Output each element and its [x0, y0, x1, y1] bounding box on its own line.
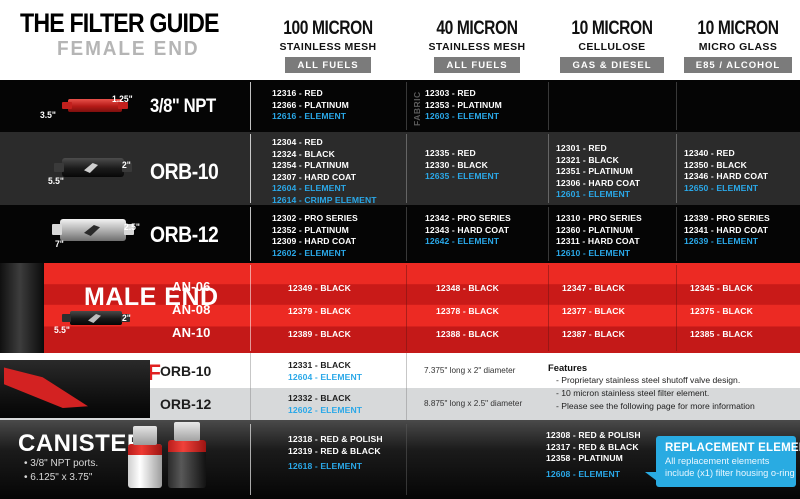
part-number: 12316 - RED — [272, 88, 349, 100]
part-number-element: 12610 - ELEMENT — [556, 248, 642, 260]
part-number: 12311 - HARD COAT — [556, 236, 642, 248]
column-header-10-micron-cellulose: 10 MICRON CELLULOSE GAS & DIESEL — [548, 18, 676, 73]
part-number-element: 12642 - ELEMENT — [425, 236, 511, 248]
section-male-end: MALE END 5.5" 2" AN-06 AN-08 AN-10 12349… — [0, 263, 800, 353]
part-cell-orb12-10micron-microglass: 12339 - PRO SERIES 12341 - HARD COAT 126… — [684, 213, 770, 248]
part-number: 12341 - HARD COAT — [684, 225, 770, 237]
column-header-40-micron: 40 MICRON STAINLESS MESH ALL FUELS — [406, 18, 548, 73]
part-number: 12321 - BLACK — [556, 155, 640, 167]
part-number: 12301 - RED — [556, 143, 640, 155]
part-number: 12317 - RED & BLACK — [546, 442, 641, 454]
filter-endcap-left — [52, 224, 62, 235]
part-number: 12335 - RED — [425, 148, 499, 160]
part-cell-orb12-10micron-cellulose: 12310 - PRO SERIES 12360 - PLATINUM 1231… — [556, 213, 642, 259]
dimension-diameter-38-npt: 1.25" — [112, 94, 133, 105]
part-number: 12378 - BLACK — [436, 300, 510, 323]
part-number: 12346 - HARD COAT — [684, 171, 768, 183]
shutoff-dimension-orb-10: 7.375" long x 2" diameter — [424, 366, 515, 375]
part-number: 12354 - PLATINUM — [272, 160, 377, 172]
section-canister: CANISTER • 3/8" NPT ports. • 6.125" x 3.… — [0, 420, 800, 499]
part-number-element: 12604 - ELEMENT — [272, 183, 377, 195]
part-number: 12343 - HARD COAT — [425, 225, 511, 237]
dimension-diameter-orb-10: 2" — [122, 160, 131, 171]
part-cell-shutoff-orb-10: 12331 - BLACK 12604 - ELEMENT — [288, 360, 362, 383]
dimension-length-orb-12: 7" — [55, 239, 64, 250]
part-cell-shutoff-orb-12: 12332 - BLACK 12602 - ELEMENT — [288, 393, 362, 416]
part-number: 12353 - PLATINUM — [425, 100, 502, 112]
filter-endcap-left — [62, 314, 71, 322]
part-cell-canister-right: 12308 - RED & POLISH 12317 - RED & BLACK… — [546, 430, 641, 480]
column-fuel-badge: ALL FUELS — [285, 57, 370, 73]
part-number: 12304 - RED — [272, 137, 377, 149]
badge-line-1: All replacement elements — [665, 456, 787, 468]
part-number: 12318 - RED & POLISH — [288, 434, 383, 446]
part-number-element: 12650 - ELEMENT — [684, 183, 768, 195]
part-number-element: 12635 - ELEMENT — [425, 171, 499, 183]
feature-item: - Proprietary stainless steel shutoff va… — [556, 375, 740, 385]
part-number: 12358 - PLATINUM — [546, 453, 641, 465]
canister-bullet: • 6.125" x 3.75" — [24, 472, 92, 483]
part-cell-38npt-40micron: 12303 - RED 12353 - PLATINUM 12603 - ELE… — [425, 88, 502, 123]
part-number: 12324 - BLACK — [272, 149, 377, 161]
part-number: 12342 - PRO SERIES — [425, 213, 511, 225]
hero-male-filter-photo — [0, 263, 44, 353]
part-number: 12347 - BLACK — [562, 277, 636, 300]
column-fuel-badge: ALL FUELS — [434, 57, 519, 73]
part-number: 12332 - BLACK — [288, 393, 362, 405]
part-number: 12350 - BLACK — [684, 160, 768, 172]
table-row-orb-10: 5.5" 2" ORB-10 12304 - RED 12324 - BLACK… — [0, 132, 800, 205]
part-number: 12309 - HARD COAT — [272, 236, 358, 248]
column-material-label: MICRO GLASS — [676, 41, 800, 53]
dimension-length-orb-10: 5.5" — [48, 176, 64, 187]
dimension-length-male: 5.5" — [54, 325, 70, 336]
part-number: 12388 - BLACK — [436, 323, 510, 346]
part-cell-orb12-100micron: 12302 - PRO SERIES 12352 - PLATINUM 1230… — [272, 213, 358, 259]
part-cell-38npt-100micron: 12316 - RED 12366 - PLATINUM 12616 - ELE… — [272, 88, 349, 123]
part-number: 12348 - BLACK — [436, 277, 510, 300]
part-cell-orb12-40micron: 12342 - PRO SERIES 12343 - HARD COAT 126… — [425, 213, 511, 248]
filter-endcap-left — [54, 163, 64, 172]
replacement-elements-badge: REPLACEMENT ELEMENTS All replacement ele… — [656, 436, 796, 487]
part-number-element: 12602 - ELEMENT — [272, 248, 358, 260]
part-number: 12339 - PRO SERIES — [684, 213, 770, 225]
column-fuel-badge: E85 / ALCOHOL — [684, 57, 792, 73]
part-number: 12349 - BLACK — [288, 277, 362, 300]
part-cell-orb10-10micron-microglass: 12340 - RED 12350 - BLACK 12346 - HARD C… — [684, 148, 768, 194]
column-material-label: STAINLESS MESH — [406, 41, 548, 53]
part-number: 12330 - BLACK — [425, 160, 499, 172]
row-label-shutoff-orb-12: ORB-12 — [160, 396, 211, 412]
table-row-orb-12: 7" 2.5" ORB-12 12302 - PRO SERIES 12352 … — [0, 205, 800, 263]
row-label-orb-12: ORB-12 — [150, 222, 218, 248]
part-number: 12385 - BLACK — [690, 323, 764, 346]
dimension-diameter-orb-12: 2.5" — [124, 222, 140, 233]
shutoff-dimension-orb-12: 8.875" long x 2.5" diameter — [424, 399, 522, 408]
row-label-orb-10: ORB-10 — [150, 159, 218, 185]
part-number: 12302 - PRO SERIES — [272, 213, 358, 225]
badge-title: REPLACEMENT ELEMENTS — [665, 442, 787, 454]
column-material-label: CELLULOSE — [548, 41, 676, 53]
part-number-element: 12639 - ELEMENT — [684, 236, 770, 248]
page-header: THE FILTER GUIDE FEMALE END 100 MICRON S… — [0, 0, 800, 80]
part-number-element: 12618 - ELEMENT — [288, 461, 383, 473]
part-number: 12345 - BLACK — [690, 277, 764, 300]
feature-item: - Please see the following page for more… — [556, 401, 755, 411]
row-label-38-npt: 3/8" NPT — [150, 96, 216, 118]
part-number: 12389 - BLACK — [288, 323, 362, 346]
part-number: 12340 - RED — [684, 148, 768, 160]
part-number-element: 12608 - ELEMENT — [546, 469, 641, 481]
part-cell-orb10-100micron: 12304 - RED 12324 - BLACK 12354 - PLATIN… — [272, 137, 377, 207]
canister-image-polish-bracket — [133, 426, 157, 445]
column-micron-label: 40 MICRON — [419, 18, 535, 40]
badge-line-2: include (x1) filter housing o-ring — [665, 468, 787, 480]
page-title: THE FILTER GUIDE — [20, 8, 219, 39]
row-label-shutoff-orb-10: ORB-10 — [160, 363, 211, 379]
row-label-an-08: AN-08 — [172, 302, 211, 317]
part-number: 12360 - PLATINUM — [556, 225, 642, 237]
section-label-female-end: FEMALE END — [57, 38, 200, 61]
table-row-shutoff-orb-12: ORB-12 12332 - BLACK 12602 - ELEMENT 8.8… — [0, 388, 800, 420]
column-micron-label: 10 MICRON — [560, 18, 665, 40]
dimension-length-38-npt: 3.5" — [40, 110, 56, 121]
part-number: 12375 - BLACK — [690, 300, 764, 323]
part-number: 12308 - RED & POLISH — [546, 430, 641, 442]
features-title: Features — [548, 362, 587, 373]
column-micron-label: 10 MICRON — [687, 18, 789, 40]
table-row-38-npt: 3.5" 1.25" 3/8" NPT FABRIC 12316 - RED 1… — [0, 80, 800, 132]
part-number: 12306 - HARD COAT — [556, 178, 640, 190]
canister-bullet: • 3/8" NPT ports. — [24, 458, 98, 469]
fabric-label: FABRIC — [412, 91, 422, 126]
canister-image-polish-collar — [128, 444, 162, 455]
part-cell-canister-left: 12318 - RED & POLISH 12319 - RED & BLACK… — [288, 434, 383, 473]
column-micron-label: 100 MICRON — [264, 18, 392, 40]
part-number-element: 12604 - ELEMENT — [288, 372, 362, 384]
row-label-an-10: AN-10 — [172, 325, 211, 340]
column-header-10-micron-micro-glass: 10 MICRON MICRO GLASS E85 / ALCOHOL — [676, 18, 800, 73]
part-number: 12387 - BLACK — [562, 323, 636, 346]
part-number-element: 12601 - ELEMENT — [556, 189, 640, 201]
part-number: 12331 - BLACK — [288, 360, 362, 372]
part-number-element: 12603 - ELEMENT — [425, 111, 502, 123]
filter-guide-page: THE FILTER GUIDE FEMALE END 100 MICRON S… — [0, 0, 800, 499]
canister-image-black-bracket — [174, 422, 200, 441]
row-label-an-06: AN-06 — [172, 279, 211, 294]
part-number: 12319 - RED & BLACK — [288, 446, 383, 458]
part-number: 12352 - PLATINUM — [272, 225, 358, 237]
canister-image-black-collar — [168, 440, 206, 452]
part-cell-orb10-40micron: 12335 - RED 12330 - BLACK 12635 - ELEMEN… — [425, 148, 499, 183]
part-number: 12307 - HARD COAT — [272, 172, 377, 184]
part-number: 12366 - PLATINUM — [272, 100, 349, 112]
part-cell-orb10-10micron-cellulose: 12301 - RED 12321 - BLACK 12351 - PLATIN… — [556, 143, 640, 201]
feature-item: - 10 micron stainless steel filter eleme… — [556, 388, 709, 398]
column-material-label: STAINLESS MESH — [250, 41, 406, 53]
column-header-100-micron: 100 MICRON STAINLESS MESH ALL FUELS — [250, 18, 406, 73]
part-number-element: 12616 - ELEMENT — [272, 111, 349, 123]
part-number: 12303 - RED — [425, 88, 502, 100]
dimension-diameter-male: 2" — [122, 313, 131, 324]
part-number: 12351 - PLATINUM — [556, 166, 640, 178]
part-number-element: 12602 - ELEMENT — [288, 405, 362, 417]
column-fuel-badge: GAS & DIESEL — [560, 57, 663, 73]
filter-endcap-left — [62, 102, 72, 109]
part-number: 12377 - BLACK — [562, 300, 636, 323]
section-title-canister: CANISTER — [18, 430, 145, 458]
part-number: 12310 - PRO SERIES — [556, 213, 642, 225]
part-number: 12379 - BLACK — [288, 300, 362, 323]
